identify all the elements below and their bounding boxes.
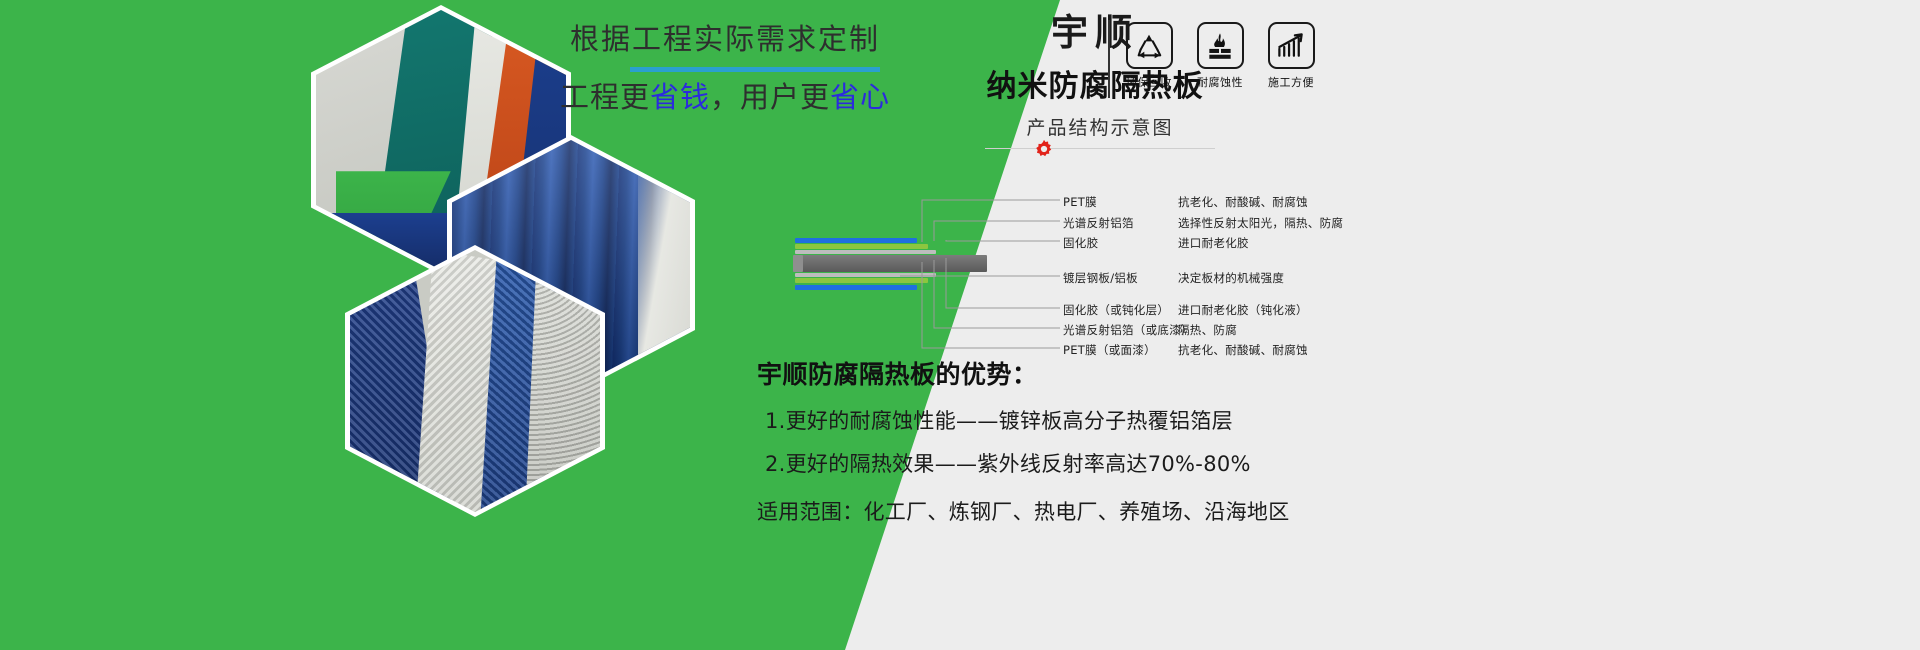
layer-desc-foil-bottom: 隔热、防腐 (1178, 322, 1237, 338)
headline-line-2-part-c: ，用户更 (710, 80, 830, 114)
growth-chart-icon (1268, 22, 1315, 69)
advantages-title: 宇顺防腐隔热板的优势： (757, 355, 1557, 391)
application-scope: 适用范围：化工厂、炼钢厂、热电厂、养殖场、沿海地区 (757, 496, 1557, 526)
feature-badge-list: 环保回收 耐腐蚀性 施工方便 (1122, 22, 1318, 90)
layer-desc-pet-top: 抗老化、耐酸碱、耐腐蚀 (1178, 194, 1308, 210)
diagram-divider (985, 148, 1215, 149)
layer-label-glue-top: 固化胶 (1063, 235, 1098, 251)
feature-badge-installation: 施工方便 (1264, 22, 1318, 90)
headline-line-2-part-a: 工程更 (560, 80, 650, 114)
advantages-block: 宇顺防腐隔热板的优势： 1.更好的耐腐蚀性能——镀锌板高分子热覆铝箔层 2.更好… (757, 355, 1557, 526)
banner-stage: 根据工程实际需求定制 工程更省钱，用户更省心 宇顺 纳米防腐隔热板 环保回收 (0, 0, 1920, 650)
feature-label-recycle: 环保回收 (1122, 74, 1176, 90)
layer-label-steel-core: 镀层钢板/铝板 (1063, 270, 1138, 286)
headline-block: 根据工程实际需求定制 工程更省钱，用户更省心 (560, 22, 880, 115)
layer-label-foil-bottom: 光谱反射铝箔（或底漆） (1063, 322, 1193, 338)
layer-desc-glue-top: 进口耐老化胶 (1178, 235, 1249, 251)
layer-desc-glue-bottom: 进口耐老化胶（钝化液） (1178, 302, 1308, 318)
advantage-item-1: 1.更好的耐腐蚀性能——镀锌板高分子热覆铝箔层 (757, 405, 1557, 435)
feature-label-installation: 施工方便 (1264, 74, 1318, 90)
gear-icon (1033, 138, 1055, 160)
feature-badge-recycle: 环保回收 (1122, 22, 1176, 90)
headline-line-2: 工程更省钱，用户更省心 (560, 80, 880, 115)
layer-bar-pet-bottom (795, 285, 917, 290)
brand-divider (1108, 20, 1110, 98)
layer-desc-steel-core: 决定板材的机械强度 (1178, 270, 1284, 286)
headline-accent-save-money: 省钱 (650, 80, 710, 114)
recycle-icon (1126, 22, 1173, 69)
flame-bricks-icon (1197, 22, 1244, 69)
headline-accent-peace-of-mind: 省心 (830, 80, 890, 114)
headline-line-1: 根据工程实际需求定制 (560, 22, 880, 57)
layer-label-foil-top: 光谱反射铝箔 (1063, 215, 1134, 231)
layer-label-pet-top: PET膜 (1063, 194, 1097, 210)
layer-label-glue-bottom: 固化胶（或钝化层） (1063, 302, 1169, 318)
diagram-title: 产品结构示意图 (975, 113, 1225, 140)
feature-label-corrosion: 耐腐蚀性 (1193, 74, 1247, 90)
layer-bar-core-edge (793, 255, 803, 272)
advantage-item-2: 2.更好的隔热效果——紫外线反射率高达70%-80% (757, 448, 1557, 478)
layer-bar-pet-top (795, 238, 917, 243)
headline-rule (630, 67, 880, 72)
feature-badge-corrosion: 耐腐蚀性 (1193, 22, 1247, 90)
layer-desc-foil-top: 选择性反射太阳光，隔热、防腐 (1178, 215, 1343, 231)
